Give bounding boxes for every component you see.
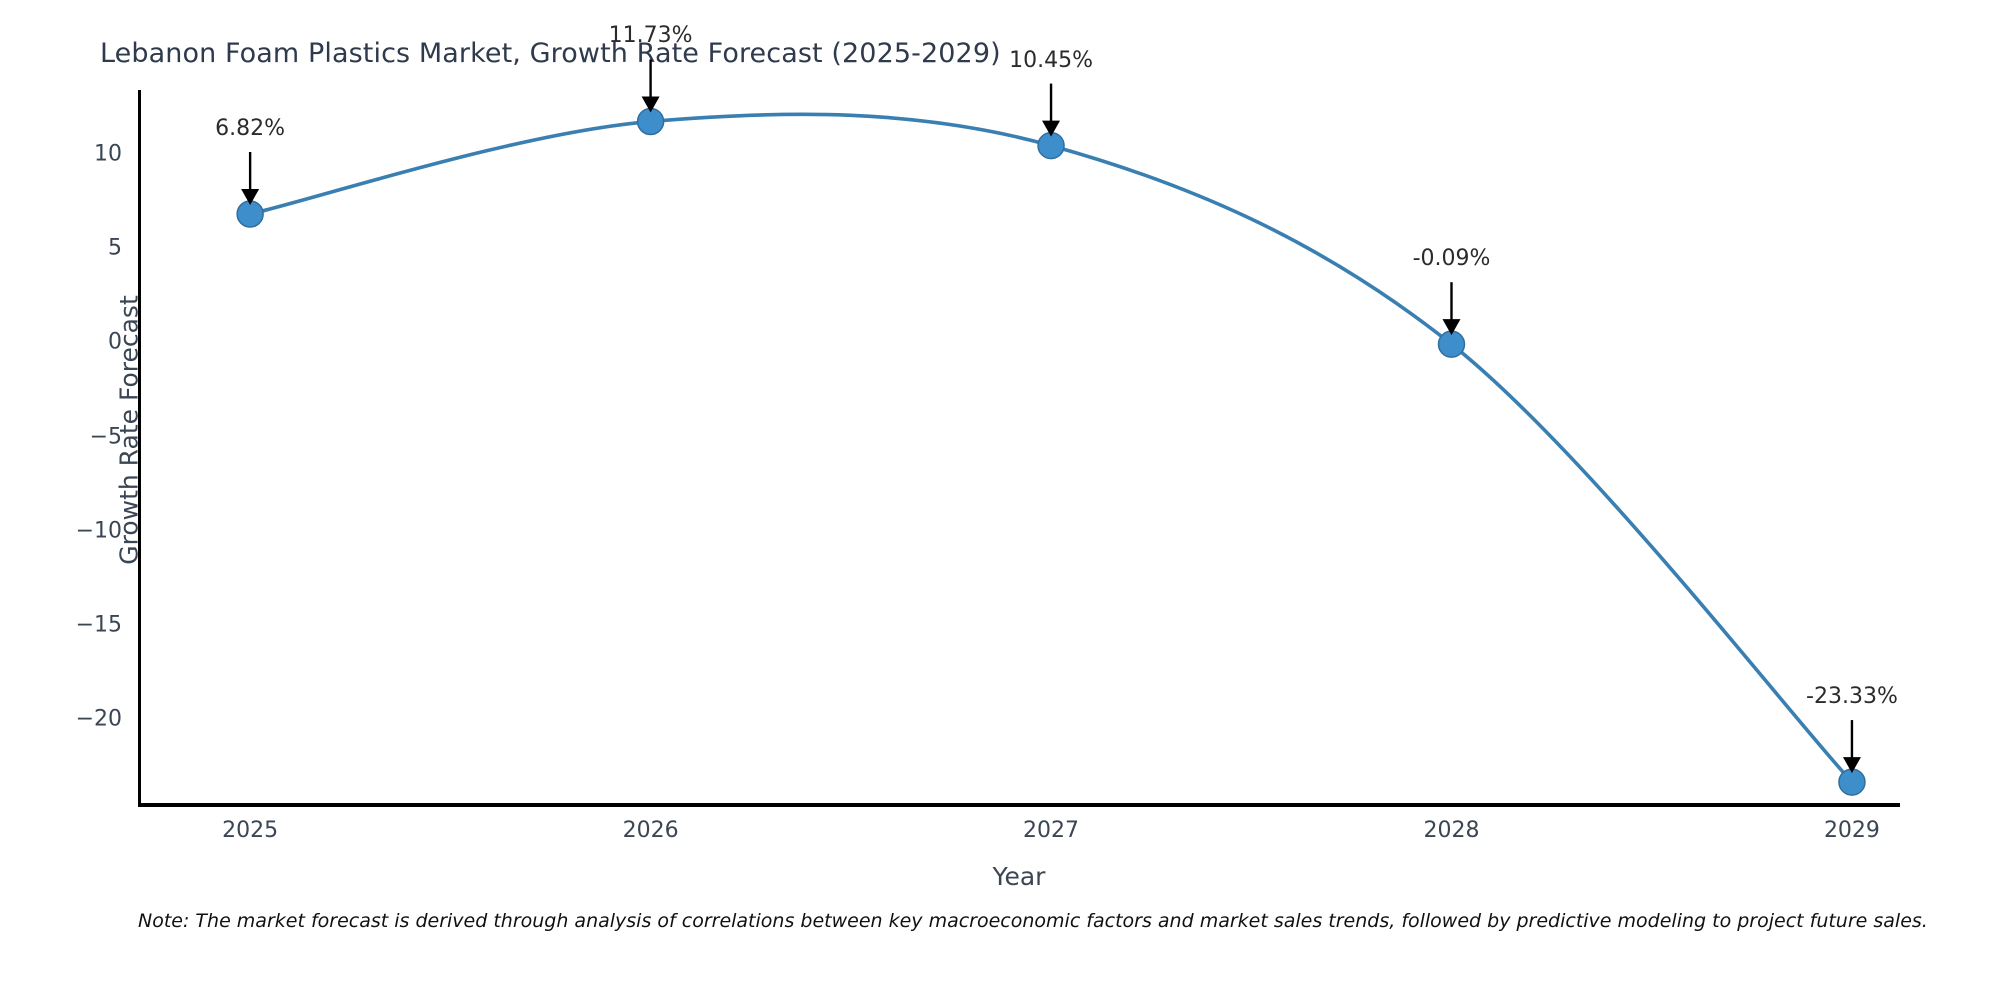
y-tick-label: −20 xyxy=(76,707,122,732)
x-tick-label-2027: 2027 xyxy=(1023,818,1079,843)
y-tick-label: 0 xyxy=(108,330,122,355)
x-tick-label-2025: 2025 xyxy=(222,818,278,843)
series-line-growth-rate-forecast xyxy=(250,114,1852,782)
annotation-arrows xyxy=(241,59,1861,773)
chart-note: Note: The market forecast is derived thr… xyxy=(138,910,2000,932)
x-tick-label-2028: 2028 xyxy=(1423,818,1479,843)
y-tick-label: −15 xyxy=(76,613,122,638)
x-tick-label-2029: 2029 xyxy=(1824,818,1880,843)
point-label-2028: -0.09% xyxy=(1413,246,1491,271)
y-tick-label: 5 xyxy=(108,236,122,261)
y-tick-label: −10 xyxy=(76,518,122,543)
y-axis-title-holder: Growth Rate Forecast xyxy=(0,150,44,710)
plot-area xyxy=(138,90,1900,806)
x-axis-title: Year xyxy=(138,862,1900,891)
chart-title: Lebanon Foam Plastics Market, Growth Rat… xyxy=(100,38,1001,69)
series-markers xyxy=(237,108,1865,795)
point-label-2029: -23.33% xyxy=(1806,684,1898,709)
x-tick-label-2026: 2026 xyxy=(623,818,679,843)
point-label-2026: 11.73% xyxy=(609,23,693,48)
y-tick-label: 10 xyxy=(94,142,122,167)
line-chart-svg xyxy=(138,90,1900,806)
chart-figure: Lebanon Foam Plastics Market, Growth Rat… xyxy=(0,0,2000,1000)
point-label-2025: 6.82% xyxy=(215,116,285,141)
y-tick-label: −5 xyxy=(90,424,122,449)
point-label-2027: 10.45% xyxy=(1009,48,1093,73)
